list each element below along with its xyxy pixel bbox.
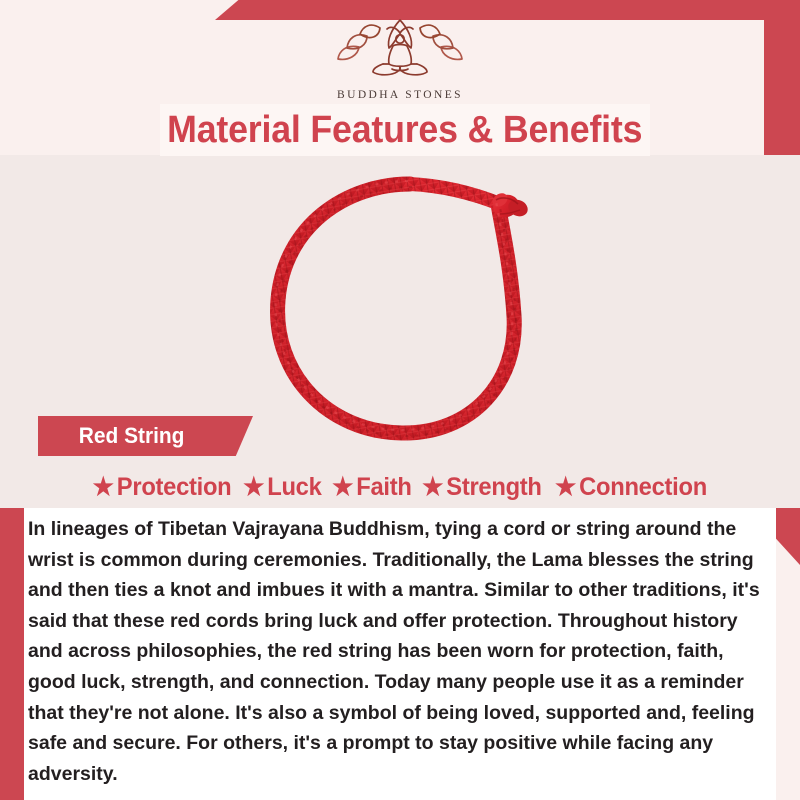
red-braided-string-bracelet (250, 170, 560, 465)
benefit-label: Luck (267, 473, 321, 502)
brand-logo: BUDDHA STONES (0, 14, 800, 101)
star-icon: ★ (422, 475, 443, 500)
description-text: In lineages of Tibetan Vajrayana Buddhis… (28, 514, 768, 789)
brand-name: BUDDHA STONES (337, 89, 463, 101)
benefit-strength: ★ Strength (422, 473, 542, 502)
star-icon: ★ (332, 475, 353, 500)
title-banner: Material Features & Benefits (160, 104, 650, 156)
benefit-faith: ★ Faith (332, 473, 411, 502)
benefit-label: Connection (579, 473, 707, 502)
page-title: Material Features & Benefits (167, 111, 642, 149)
star-icon: ★ (243, 475, 264, 500)
benefit-label: Protection (117, 473, 232, 502)
benefits-row: ★ Protection ★ Luck ★ Faith ★ Strength ★… (38, 466, 762, 508)
infographic-page: BUDDHA STONES Material Features & Benefi… (0, 0, 800, 800)
star-icon: ★ (555, 475, 576, 500)
product-label: Red String (79, 423, 185, 449)
benefit-label: Strength (447, 473, 542, 502)
lotus-meditation-icon (325, 14, 475, 85)
star-icon: ★ (93, 475, 114, 500)
description-panel: In lineages of Tibetan Vajrayana Buddhis… (24, 508, 776, 800)
product-label-banner: Red String (38, 416, 253, 456)
benefit-connection: ★ Connection (555, 473, 707, 502)
benefit-luck: ★ Luck (243, 473, 321, 502)
benefit-protection: ★ Protection (93, 473, 232, 502)
benefit-label: Faith (356, 473, 411, 502)
